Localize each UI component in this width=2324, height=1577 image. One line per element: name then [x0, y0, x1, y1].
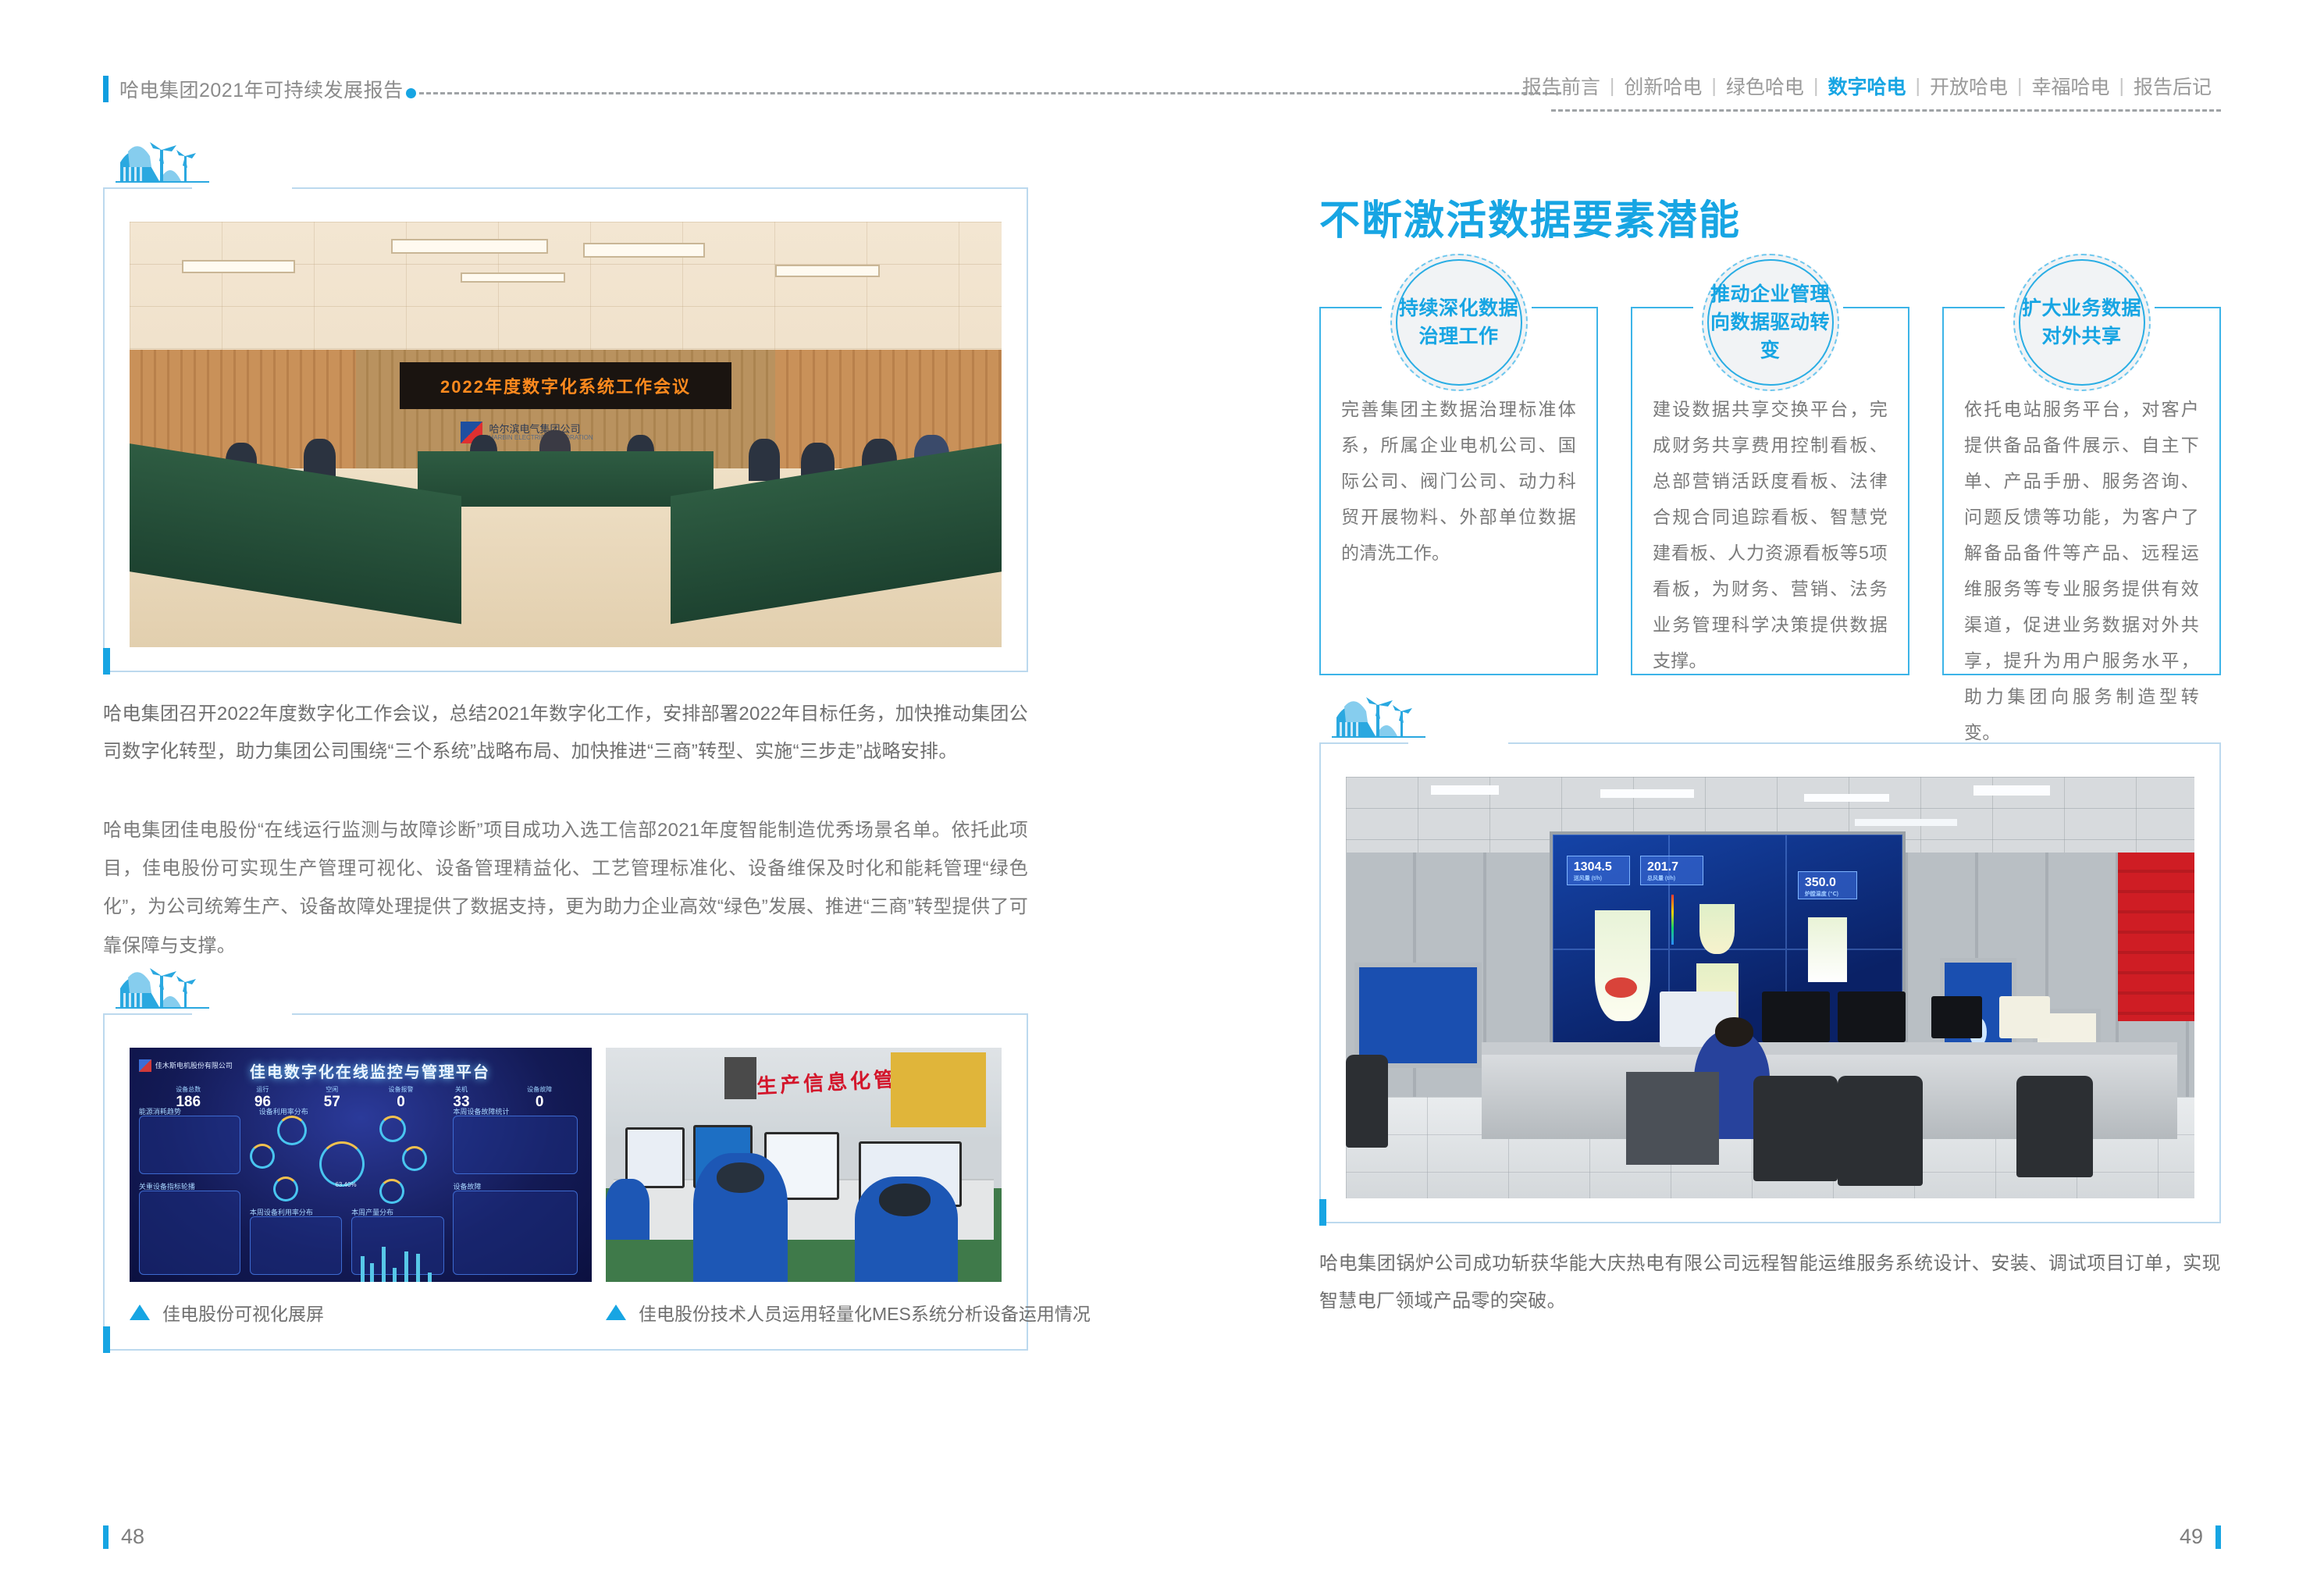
meeting-room-photo: 2022年度数字化系统工作会议 哈尔滨电气集团公司 HARBIN ELECTRI… — [130, 222, 1002, 647]
nav-item-6[interactable]: 报告后记 — [2124, 72, 2221, 100]
meeting-banner: 2022年度数字化系统工作会议 — [400, 362, 731, 409]
control-room-caption: 哈电集团锅炉公司成功斩获华能大庆热电有限公司远程智能运维服务系统设计、安装、调试… — [1319, 1245, 2221, 1320]
meeting-banner-text: 2022年度数字化系统工作会议 — [440, 373, 691, 398]
report-spread: 哈电集团2021年可持续发展报告 报告前言 | 创新哈电 | 绿色哈电 | 数字… — [0, 0, 2324, 1577]
mes-photo-frame: 佳木斯电机股份有限公司 佳电数字化在线监控与管理平台 设备总数186 运行96 … — [103, 1013, 1028, 1351]
frame-accent-bar — [103, 648, 110, 675]
section-nav[interactable]: 报告前言 | 创新哈电 | 绿色哈电 | 数字哈电 | 开放哈电 | 幸福哈电 … — [1513, 72, 2221, 100]
dashboard-kpi-2: 空闲57 — [324, 1085, 340, 1111]
mini-caption-text-1: 佳电股份技术人员运用轻量化MES系统分析设备运用情况 — [639, 1299, 1091, 1326]
frame-accent-bar — [1319, 1199, 1326, 1226]
dashboard-company: 佳木斯电机股份有限公司 — [155, 1060, 233, 1070]
footer-left: 48 — [103, 1525, 144, 1549]
strategy-card-0: 持续深化数据治理工作 完善集团主数据治理标准体系，所属企业电机公司、国际公司、阀… — [1319, 307, 1598, 675]
nav-item-2[interactable]: 绿色哈电 — [1717, 72, 1813, 100]
dashboard-panel-label-0: 能源消耗趋势 — [139, 1106, 181, 1116]
header-dot-marker — [406, 88, 416, 98]
left-page-column: 2022年度数字化系统工作会议 哈尔滨电气集团公司 HARBIN ELECTRI… — [103, 187, 1028, 1351]
dashboard-panel-label-2: 本周设备故障统计 — [453, 1106, 509, 1116]
frame-accent-bar — [103, 1326, 110, 1353]
mes-operators-photo: 生产信息化管理 — [606, 1048, 1002, 1282]
footer-accent-bar — [103, 1525, 109, 1549]
body-paragraph: 哈电集团佳电股份“在线运行监测与故障诊断”项目成功入选工信部2021年度智能制造… — [103, 811, 1028, 965]
mini-caption-text-0: 佳电股份可视化展屏 — [162, 1299, 324, 1326]
card-body-0: 完善集团主数据治理标准体系，所属企业电机公司、国际公司、阀门公司、动力科贸开展物… — [1341, 391, 1576, 571]
nav-item-0[interactable]: 报告前言 — [1513, 72, 1610, 100]
triangle-bullet-icon — [130, 1305, 150, 1320]
nav-item-1[interactable]: 创新哈电 — [1614, 72, 1711, 100]
triangle-bullet-icon — [606, 1305, 626, 1320]
page-number-right: 49 — [2180, 1525, 2203, 1549]
dashboard-kpi-5: 设备故障0 — [527, 1085, 552, 1111]
side-display-left — [1354, 963, 1482, 1068]
card-title-2: 扩大业务数据对外共享 — [2020, 294, 2144, 351]
section-title: 不断激活数据要素潜能 — [1319, 187, 2221, 246]
card-circle-2: 扩大业务数据对外共享 — [2013, 254, 2151, 391]
strategy-card-1: 推动企业管理向数据驱动转变 建设数据共享交换平台，完成财务共享费用控制看板、总部… — [1631, 307, 1909, 675]
strategy-card-2: 扩大业务数据对外共享 依托电站服务平台，对客户提供备品备件展示、自主下单、产品手… — [1942, 307, 2221, 675]
dashboard-kpi-3: 设备报警0 — [389, 1085, 414, 1111]
control-room-block: 1304.5 送风量 (t/h) 201.7 总风量 (t/h) 350.0 炉… — [1319, 742, 2221, 1223]
exhibition-banner — [2118, 853, 2194, 1021]
control-room-frame: 1304.5 送风量 (t/h) 201.7 总风量 (t/h) 350.0 炉… — [1319, 742, 2221, 1223]
report-title: 哈电集团2021年可持续发展报告 — [119, 75, 404, 103]
mini-caption-0: 佳电股份可视化展屏 — [130, 1299, 592, 1326]
header-dashed-line — [419, 92, 1561, 94]
card-title-0: 持续深化数据治理工作 — [1397, 294, 1521, 351]
footer-accent-bar — [2215, 1525, 2221, 1549]
hydro-wind-icon — [116, 136, 209, 192]
hydro-wind-icon — [116, 962, 209, 1018]
right-page-column: 不断激活数据要素潜能 持续深化数据治理工作 完善集团主数据治理标准体系，所属企业… — [1319, 187, 2221, 1320]
dashboard-panel-label-1: 设备利用率分布 — [259, 1106, 308, 1116]
hydro-wind-icon — [1332, 691, 1425, 747]
footer-right: 49 — [2180, 1525, 2221, 1549]
card-body-2: 依托电站服务平台，对客户提供备品备件展示、自主下单、产品手册、服务咨询、问题反馈… — [1964, 391, 2199, 750]
logo-text-cn: 哈尔滨电气集团公司 — [489, 423, 580, 435]
readout-2: 350.0 炉膛温度 (℃) — [1805, 876, 1838, 898]
header-left: 哈电集团2021年可持续发展报告 — [103, 75, 404, 103]
card-circle-1: 推动企业管理向数据驱动转变 — [1702, 254, 1839, 391]
header-dashed-rule — [406, 87, 1561, 98]
meeting-photo-frame: 2022年度数字化系统工作会议 哈尔滨电气集团公司 HARBIN ELECTRI… — [103, 187, 1028, 672]
meeting-photo-block: 2022年度数字化系统工作会议 哈尔滨电气集团公司 HARBIN ELECTRI… — [103, 187, 1028, 672]
dashboard-title: 佳电数字化在线监控与管理平台 — [250, 1059, 490, 1082]
dashboard-panel-label-4: 本周设备利用率分布 — [250, 1207, 313, 1217]
page-number-left: 48 — [121, 1525, 144, 1549]
dashboard-panel-label-5: 本周产量分布 — [351, 1207, 393, 1217]
control-room-photo: 1304.5 送风量 (t/h) 201.7 总风量 (t/h) 350.0 炉… — [1346, 777, 2194, 1198]
meeting-caption: 哈电集团召开2022年度数字化工作会议，总结2021年数字化工作，安排部署202… — [103, 696, 1028, 771]
nav-underline-dashed — [1551, 109, 2221, 112]
mes-photo-block: 佳木斯电机股份有限公司 佳电数字化在线监控与管理平台 设备总数186 运行96 … — [103, 1013, 1028, 1351]
nav-item-4[interactable]: 开放哈电 — [1920, 72, 2017, 100]
nav-item-5[interactable]: 幸福哈电 — [2022, 72, 2119, 100]
dashboard-panel-label-6: 设备故障 — [453, 1181, 481, 1191]
visualization-dashboard-photo: 佳木斯电机股份有限公司 佳电数字化在线监控与管理平台 设备总数186 运行96 … — [130, 1048, 592, 1282]
dashboard-panel-label-3: 关重设备指标轮播 — [139, 1181, 195, 1191]
card-body-1: 建设数据共享交换平台，完成财务共享费用控制看板、总部营销活跃度看板、法律合规合同… — [1653, 391, 1888, 678]
nav-item-3-active[interactable]: 数字哈电 — [1818, 72, 1915, 100]
dashboard-center-gauge: 63.40% — [335, 1181, 356, 1188]
readout-1: 201.7 总风量 (t/h) — [1647, 860, 1678, 882]
card-circle-0: 持续深化数据治理工作 — [1390, 254, 1528, 391]
header-accent-bar — [103, 76, 109, 102]
card-title-1: 推动企业管理向数据驱动转变 — [1709, 280, 1832, 365]
strategy-cards: 持续深化数据治理工作 完善集团主数据治理标准体系，所属企业电机公司、国际公司、阀… — [1319, 307, 2221, 675]
readout-0: 1304.5 送风量 (t/h) — [1574, 860, 1612, 882]
mini-caption-1: 佳电股份技术人员运用轻量化MES系统分析设备运用情况 — [606, 1299, 1091, 1326]
